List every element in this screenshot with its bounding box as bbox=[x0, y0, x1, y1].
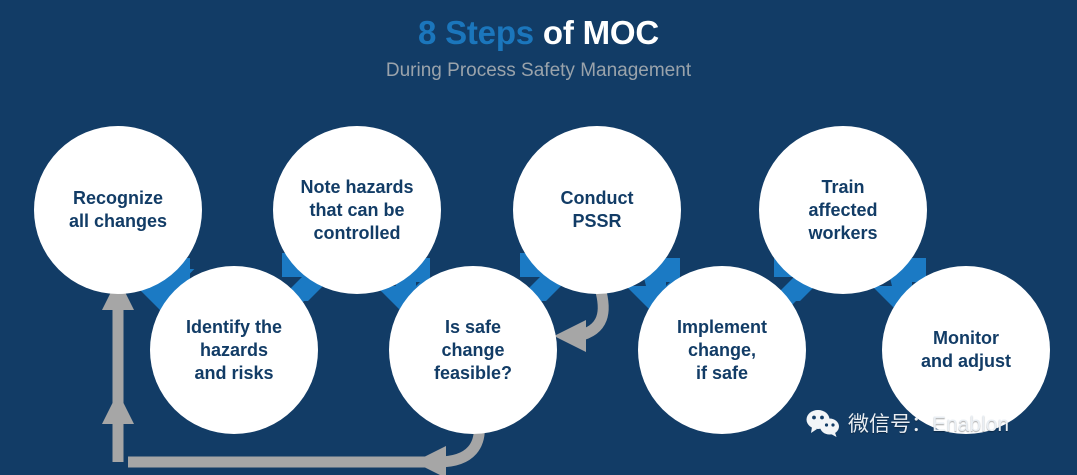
step-node-label: Note hazards that can be controlled bbox=[288, 176, 425, 245]
step-node-6[interactable]: Implement change, if safe bbox=[638, 266, 806, 434]
step-node-3[interactable]: Note hazards that can be controlled bbox=[273, 126, 441, 294]
step-node-label: Implement change, if safe bbox=[665, 316, 779, 385]
step-node-label: Identify the hazards and risks bbox=[174, 316, 294, 385]
wechat-icon bbox=[806, 409, 840, 437]
wechat-watermark: 微信号：Enablon bbox=[806, 408, 1009, 438]
step-node-2[interactable]: Identify the hazards and risks bbox=[150, 266, 318, 434]
arrow-step-5-back-to-step-4 bbox=[554, 288, 603, 352]
step-node-label: Is safe change feasible? bbox=[422, 316, 524, 385]
step-node-label: Train affected workers bbox=[796, 176, 889, 245]
infographic-canvas: 8 Steps of MOC During Process Safety Man… bbox=[0, 0, 1077, 475]
step-node-4[interactable]: Is safe change feasible? bbox=[389, 266, 557, 434]
process-flow-diagram: Recognize all changesIdentify the hazard… bbox=[0, 0, 1077, 475]
step-node-label: Conduct PSSR bbox=[549, 187, 646, 233]
step-node-label: Monitor and adjust bbox=[909, 327, 1023, 373]
step-node-5[interactable]: Conduct PSSR bbox=[513, 126, 681, 294]
step-node-label: Recognize all changes bbox=[57, 187, 179, 233]
step-node-1[interactable]: Recognize all changes bbox=[34, 126, 202, 294]
step-node-7[interactable]: Train affected workers bbox=[759, 126, 927, 294]
watermark-text: 微信号：Enablon bbox=[848, 408, 1009, 438]
